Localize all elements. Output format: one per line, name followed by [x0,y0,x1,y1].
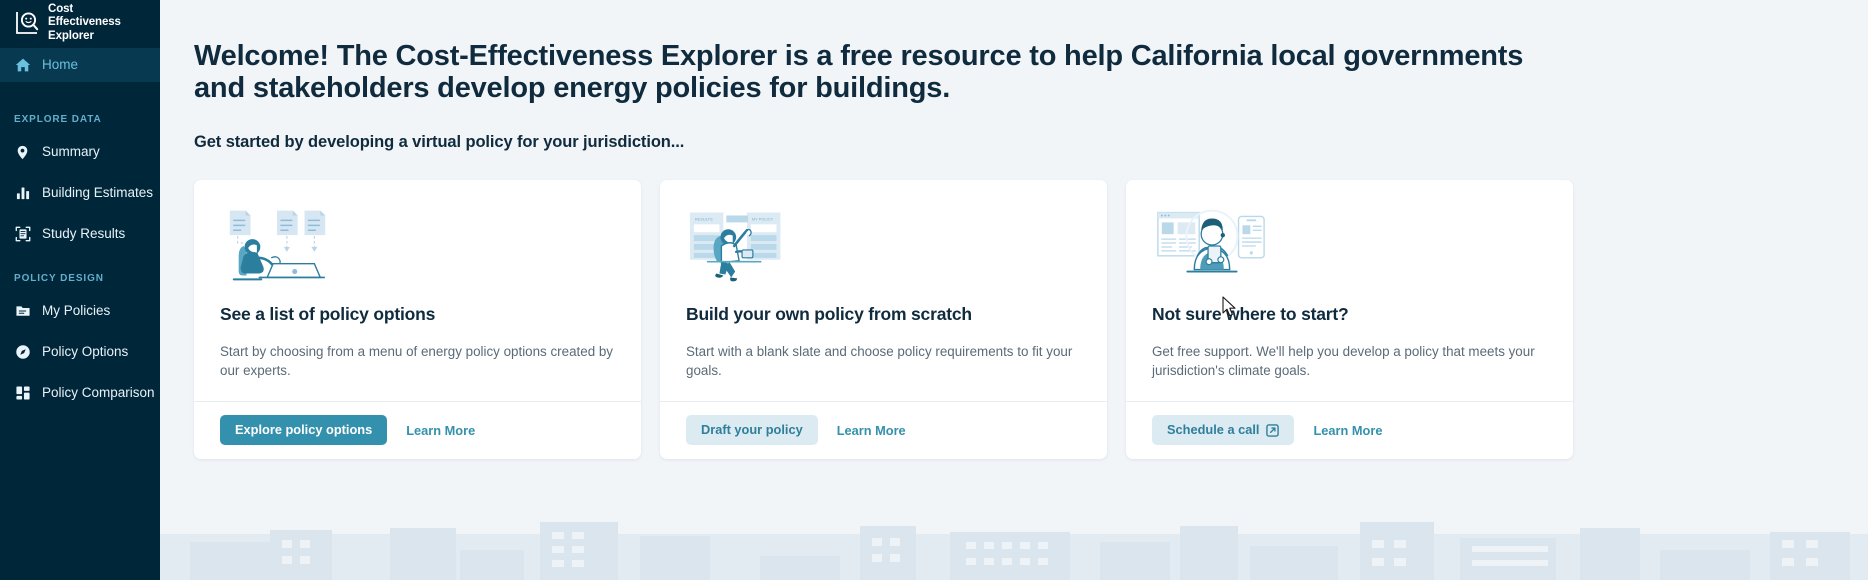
main-content: Welcome! The Cost-Effectiveness Explorer… [160,0,1868,580]
bar-chart-icon [14,185,31,202]
brand-name: Cost Effectiveness Explorer [48,3,148,44]
sidebar-spacer [0,82,160,92]
illustration-panel-label-results: RESULTS [695,216,713,221]
magnifier-chart-logo-icon [14,10,40,36]
folder-icon [14,303,31,320]
sidebar-item-policy-options[interactable]: Policy Options [0,335,160,369]
page-subtitle: Get started by developing a virtual poli… [194,133,1868,152]
city-skyline-watermark [160,516,1868,580]
person-at-laptop-with-documents-illustration [220,206,615,284]
home-icon [14,57,31,74]
sidebar-item-study-results-label: Study Results [42,227,125,241]
schedule-a-call-button[interactable]: Schedule a call [1152,415,1294,445]
page-title: Welcome! The Cost-Effectiveness Explorer… [194,40,1564,105]
sidebar-item-building-estimates-label: Building Estimates [42,186,153,200]
content-area: Welcome! The Cost-Effectiveness Explorer… [160,0,1868,459]
card-body: See a list of policy options Start by ch… [194,180,641,401]
sidebar-item-policy-comparison[interactable]: Policy Comparison [0,376,160,410]
card-title: Not sure where to start? [1152,304,1547,325]
explore-policy-options-button[interactable]: Explore policy options [220,415,387,445]
compass-icon [14,344,31,361]
card-build-policy[interactable]: RESULTS MY POLICY [660,180,1107,459]
sidebar-item-home[interactable]: Home [0,48,160,82]
card-footer: Explore policy options Learn More [194,401,641,459]
sidebar-group-explore-data: Summary Building Estimates [0,135,160,251]
explore-policy-options-button-label: Explore policy options [235,423,372,437]
learn-more-link-card-3[interactable]: Learn More [1303,415,1392,446]
learn-more-link-card-1[interactable]: Learn More [396,415,485,446]
sidebar: Cost Effectiveness Explorer Home EXPLORE… [0,0,160,580]
illustration-panel-label-my-policy: MY POLICY [752,216,774,221]
card-body: RESULTS MY POLICY [660,180,1107,401]
card-description: Start by choosing from a menu of energy … [220,342,615,381]
card-title: Build your own policy from scratch [686,304,1081,325]
sidebar-section-explore-data: EXPLORE DATA [0,114,160,125]
app-root: Cost Effectiveness Explorer Home EXPLORE… [0,0,1868,580]
sidebar-item-policy-options-label: Policy Options [42,345,128,359]
sidebar-item-policy-comparison-label: Policy Comparison [42,386,155,400]
external-link-icon [1266,424,1279,437]
sidebar-item-summary[interactable]: Summary [0,135,160,169]
card-title: See a list of policy options [220,304,615,325]
draft-your-policy-button[interactable]: Draft your policy [686,415,818,445]
grid-blocks-icon [14,385,31,402]
card-footer: Schedule a call Learn More [1126,401,1573,459]
card-description: Start with a blank slate and choose poli… [686,342,1081,381]
get-started-card-list: See a list of policy options Start by ch… [194,180,1868,459]
schedule-a-call-button-label: Schedule a call [1167,423,1259,437]
brand-logo-block[interactable]: Cost Effectiveness Explorer [0,0,160,48]
card-policy-options[interactable]: See a list of policy options Start by ch… [194,180,641,459]
person-pointing-at-policy-panels-illustration: RESULTS MY POLICY [686,206,1081,284]
sidebar-item-my-policies-label: My Policies [42,304,110,318]
sidebar-item-summary-label: Summary [42,145,100,159]
card-body: Not sure where to start? Get free suppor… [1126,180,1573,401]
sidebar-section-policy-design: POLICY DESIGN [0,273,160,284]
sidebar-item-study-results[interactable]: Study Results [0,217,160,251]
map-pin-icon [14,144,31,161]
sidebar-item-building-estimates[interactable]: Building Estimates [0,176,160,210]
sidebar-group-policy-design: My Policies Policy Options [0,294,160,410]
sidebar-item-my-policies[interactable]: My Policies [0,294,160,328]
draft-your-policy-button-label: Draft your policy [701,423,803,437]
sidebar-item-home-label: Home [42,58,78,72]
learn-more-link-card-2[interactable]: Learn More [827,415,916,446]
document-scan-icon [14,226,31,243]
person-with-tablet-and-screens-illustration [1152,206,1547,284]
card-footer: Draft your policy Learn More [660,401,1107,459]
card-get-support[interactable]: Not sure where to start? Get free suppor… [1126,180,1573,459]
card-description: Get free support. We'll help you develop… [1152,342,1547,381]
